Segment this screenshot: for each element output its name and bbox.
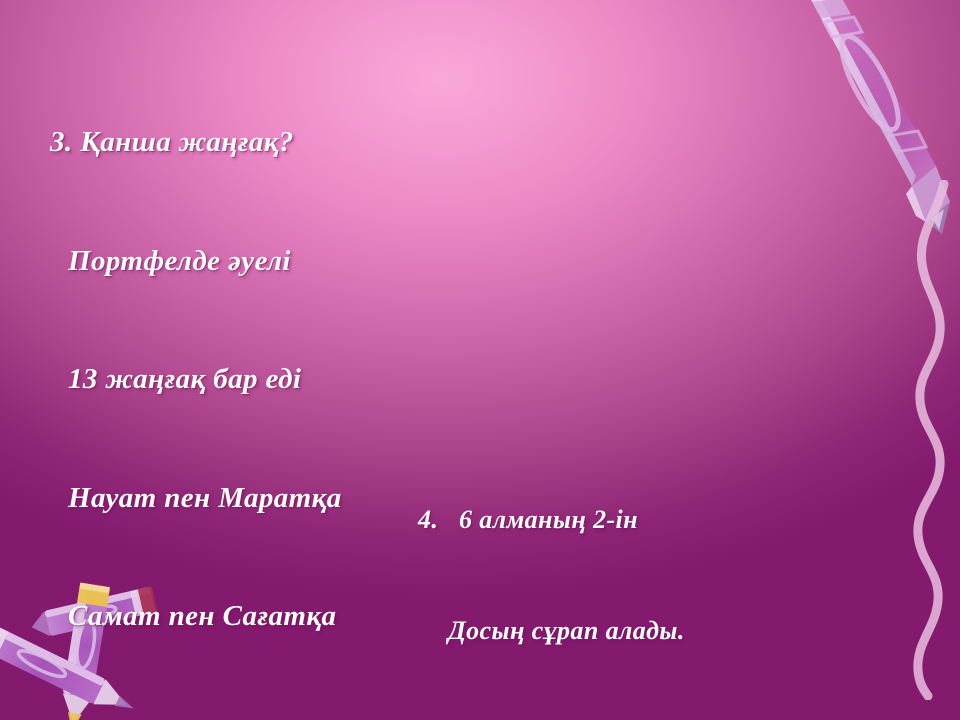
squiggle-line-icon [884,180,960,700]
verse-line: 13 жаңғақ бар еді [68,360,399,400]
verse-line: Досың сұрап алады. [448,612,702,649]
verse-block-3: 3. Қанша жаңғақ? Портфелде әуелі 13 жаңғ… [50,44,399,720]
verse-line: Науат пен Маратқа [68,479,399,519]
verse-line: Самат пен Сағатқа [68,597,399,637]
verse-line: 3. Қанша жаңғақ? [50,123,399,163]
crayon-top-right-icon [766,0,960,250]
verse-line: Апасына Қанаттың [68,716,399,720]
slide-canvas: 3. Қанша жаңғақ? Портфелде әуелі 13 жаңғ… [0,0,960,720]
verse-line: Портфелде әуелі [68,242,399,282]
verse-line: 4. 6 алманың 2-ін [418,501,702,538]
verse-block-4: 4. 6 алманың 2-ін Досың сұрап алады. Айт… [418,427,702,720]
